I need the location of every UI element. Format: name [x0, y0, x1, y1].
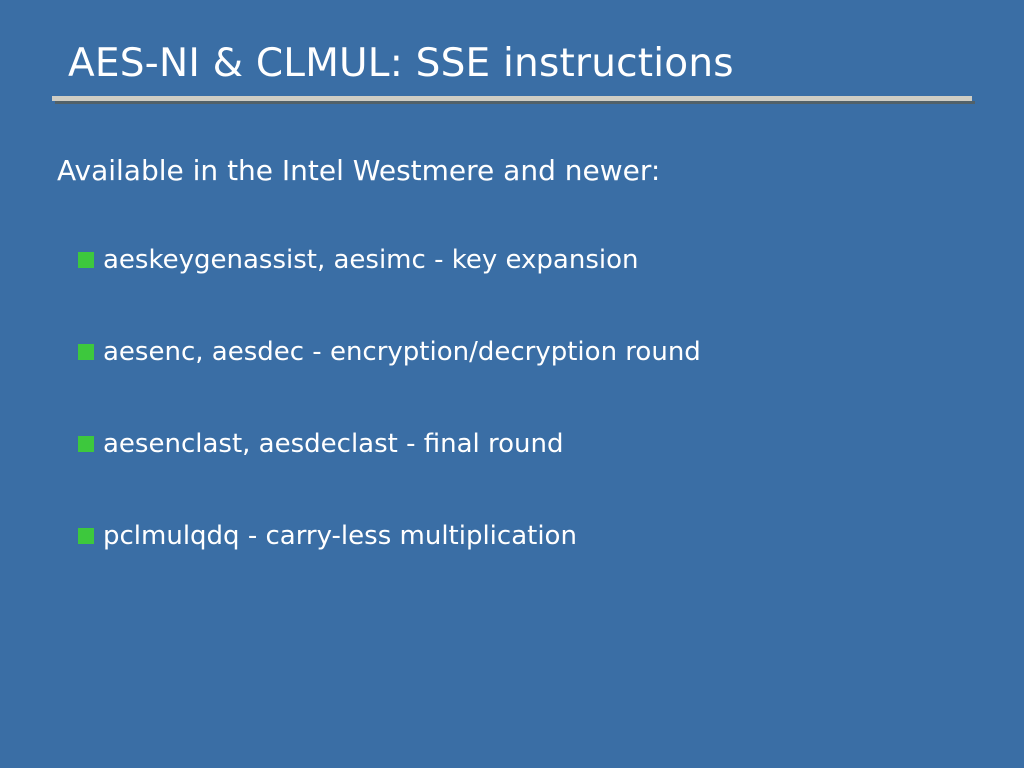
list-item: aesenclast, aesdeclast - final round [78, 424, 978, 516]
list-item: pclmulqdq - carry-less multiplication [78, 516, 978, 608]
list-item-label: aeskeygenassist, aesimc - key expansion [103, 240, 639, 280]
list-item-label: pclmulqdq - carry-less multiplication [103, 516, 577, 556]
slide-title-block: AES-NI & CLMUL: SSE instructions [0, 0, 1024, 112]
square-bullet-icon [78, 528, 94, 544]
square-bullet-icon [78, 436, 94, 452]
list-item: aeskeygenassist, aesimc - key expansion [78, 240, 978, 332]
slide-subtitle: Available in the Intel Westmere and newe… [57, 152, 660, 190]
title-underline-shadow [55, 101, 975, 104]
list-item-label: aesenc, aesdec - encryption/decryption r… [103, 332, 701, 372]
square-bullet-icon [78, 344, 94, 360]
bullet-list: aeskeygenassist, aesimc - key expansion … [78, 240, 978, 608]
square-bullet-icon [78, 252, 94, 268]
list-item-label: aesenclast, aesdeclast - final round [103, 424, 564, 464]
list-item: aesenc, aesdec - encryption/decryption r… [78, 332, 978, 424]
presentation-slide: AES-NI & CLMUL: SSE instructions Availab… [0, 0, 1024, 768]
slide-title: AES-NI & CLMUL: SSE instructions [68, 40, 968, 88]
